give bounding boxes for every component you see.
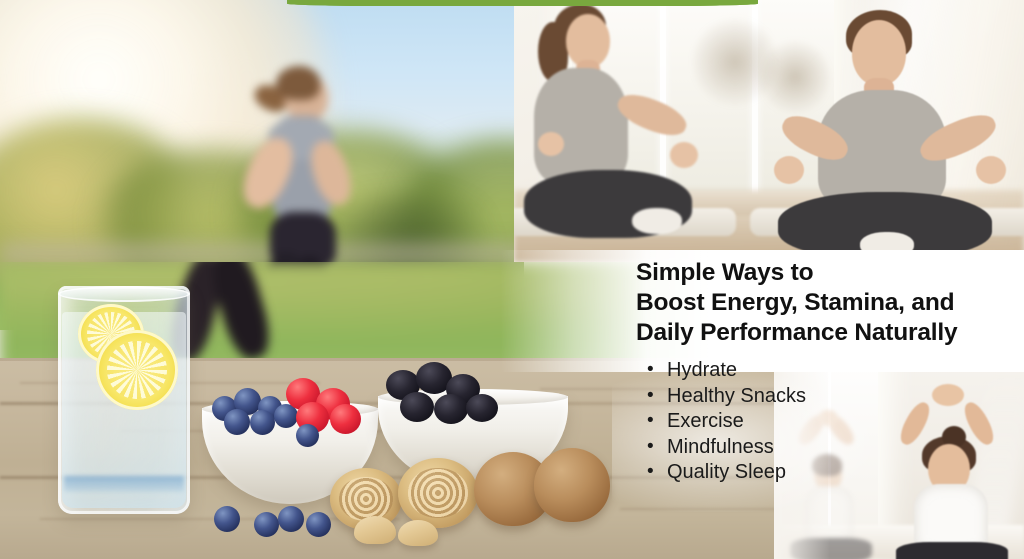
glass-rim [58, 286, 190, 302]
blackberry [466, 394, 498, 422]
yogi-hand [538, 132, 564, 156]
blueberry [250, 410, 275, 435]
panel-meditation-photo [514, 0, 1024, 262]
legs [896, 542, 1008, 559]
loose-blueberry [306, 512, 331, 537]
headline-line-3: Daily Performance Naturally [636, 318, 1020, 348]
list-item: Healthy Snacks [645, 384, 975, 410]
blueberry [224, 409, 250, 435]
wellness-infographic-poster: Simple Ways to Boost Energy, Stamina, an… [0, 0, 1024, 559]
yogi-hand-left [774, 156, 804, 184]
list-item: Quality Sleep [645, 460, 975, 486]
walnut-whole [534, 448, 610, 522]
tips-list: Hydrate Healthy Snacks Exercise Mindfuln… [645, 358, 975, 486]
strawberry-leaf [287, 0, 758, 6]
blackberry [400, 392, 434, 422]
almond [354, 516, 396, 544]
list-item: Mindfulness [645, 435, 975, 461]
lemon-slice [96, 330, 178, 410]
page-title: Simple Ways to Boost Energy, Stamina, an… [636, 258, 1020, 348]
blueberry [296, 424, 319, 447]
runner-leg [205, 262, 276, 364]
headline-line-2: Boost Energy, Stamina, and [636, 288, 1020, 318]
water-reflection [64, 476, 184, 492]
yogi-right [768, 6, 1020, 258]
yogi-shirt [534, 68, 628, 184]
legs [790, 538, 872, 559]
raspberry [330, 404, 361, 434]
yogi-head [852, 20, 906, 86]
almond [398, 520, 438, 546]
blackberry [434, 394, 468, 424]
loose-blueberry [254, 512, 279, 537]
yogi-sock [632, 208, 682, 234]
list-item: Hydrate [645, 358, 975, 384]
yogi-hand [670, 142, 698, 168]
loose-blueberry [278, 506, 304, 532]
loose-blueberry [214, 506, 240, 532]
yogi-hand-right [976, 156, 1006, 184]
walnut-half-open [398, 458, 478, 528]
list-item: Exercise [645, 409, 975, 435]
yogi-left [520, 4, 710, 254]
runner-hair [276, 66, 320, 100]
headline-line-1: Simple Ways to [636, 258, 1020, 288]
